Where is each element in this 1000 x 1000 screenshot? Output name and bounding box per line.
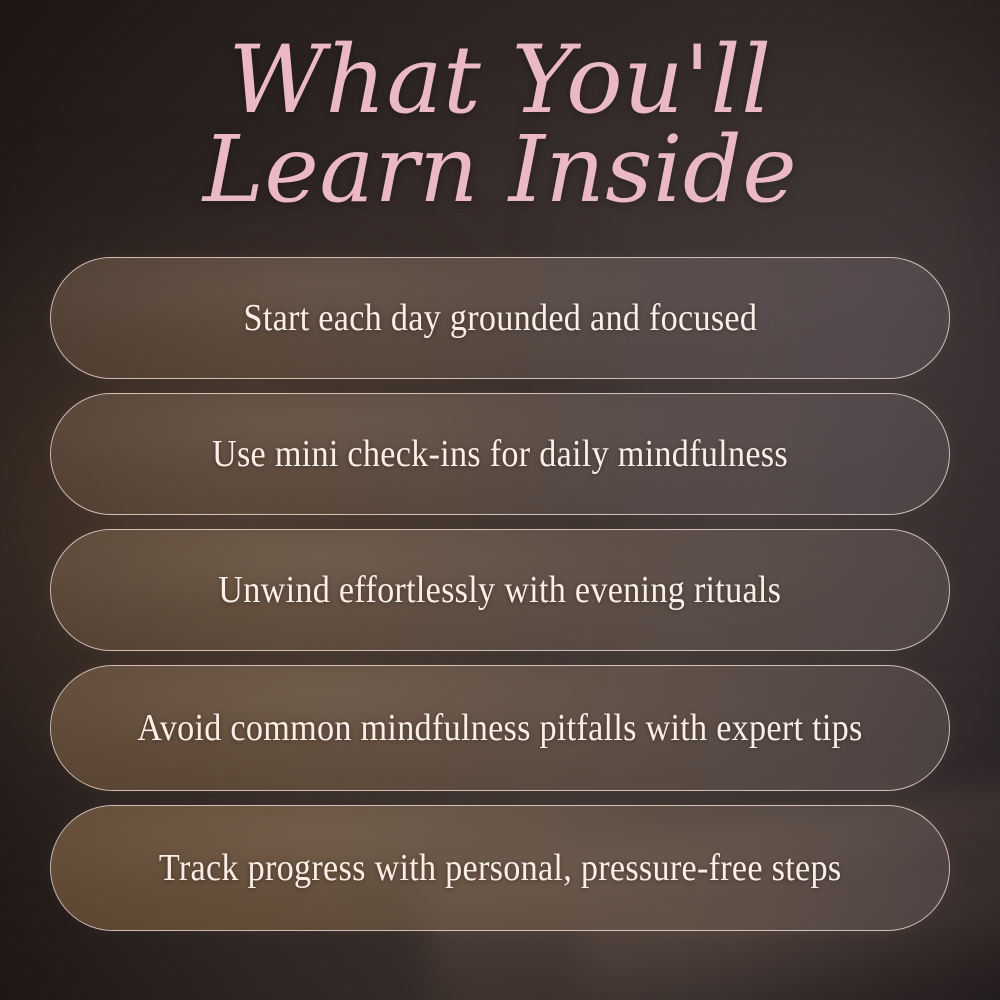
page-title: What You'll Learn Inside [0, 38, 1000, 213]
benefit-card-1[interactable]: Start each day grounded and focused [50, 257, 950, 379]
benefit-card-5[interactable]: Track progress with personal, pressure-f… [50, 805, 950, 931]
poster-canvas: What You'll Learn Inside Start each day … [0, 0, 1000, 1000]
benefit-card-list: Start each day grounded and focused Use … [50, 257, 950, 931]
poster-content: What You'll Learn Inside Start each day … [0, 0, 1000, 1000]
benefit-card-label-2: Use mini check-ins for daily mindfulness [176, 432, 824, 477]
benefit-card-2[interactable]: Use mini check-ins for daily mindfulness [50, 393, 950, 515]
benefit-card-3[interactable]: Unwind effortlessly with evening rituals [50, 529, 950, 651]
benefit-card-label-5: Track progress with personal, pressure-f… [123, 846, 877, 891]
page-title-line-1: What You'll [0, 38, 1000, 124]
benefit-card-label-1: Start each day grounded and focused [207, 296, 793, 341]
benefit-card-label-3: Unwind effortlessly with evening rituals [183, 568, 818, 613]
benefit-card-label-4: Avoid common mindfulness pitfalls with e… [101, 706, 898, 751]
page-title-line-2: Learn Inside [0, 128, 1000, 213]
benefit-card-4[interactable]: Avoid common mindfulness pitfalls with e… [50, 665, 950, 791]
